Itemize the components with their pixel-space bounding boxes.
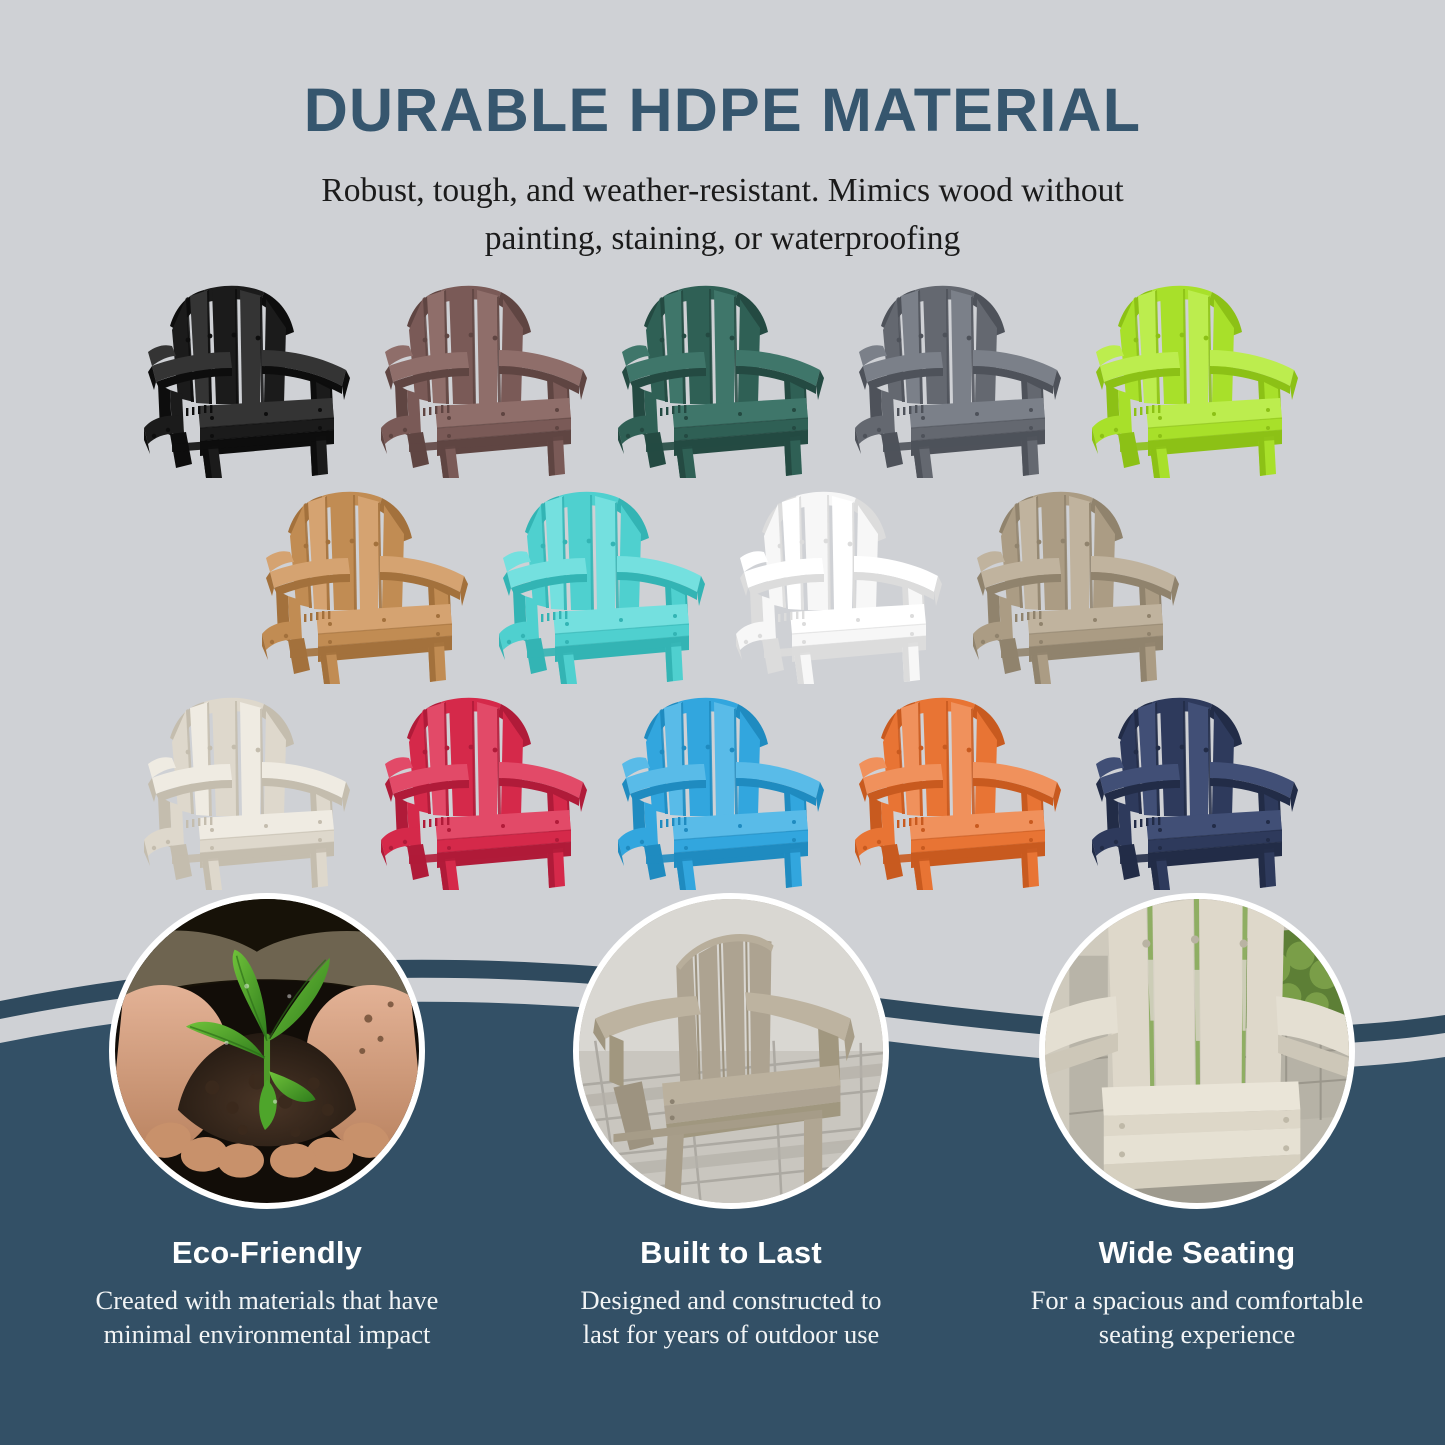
- features-section: Eco-Friendly Created with materials that…: [0, 893, 1445, 1445]
- feature-desc-line-2: last for years of outdoor use: [583, 1319, 880, 1349]
- chair-swatch-black[interactable]: [130, 272, 367, 478]
- chair-swatch-brown[interactable]: [367, 272, 604, 478]
- chair-swatch-gray[interactable]: [841, 272, 1078, 478]
- feature-title: Eco-Friendly: [52, 1209, 482, 1271]
- page-subtitle: Robust, tough, and weather-resistant. Mi…: [218, 141, 1228, 262]
- chair-illustration: [260, 484, 474, 684]
- chair-swatch-white[interactable]: [723, 478, 960, 684]
- feature-image-hands-seedling: [109, 893, 425, 1209]
- chair-swatch-navy[interactable]: [1078, 684, 1315, 890]
- chair-illustration: [1090, 690, 1304, 890]
- feature-desc-line-2: minimal environmental impact: [104, 1319, 431, 1349]
- feature-desc-line-2: seating experience: [1099, 1319, 1295, 1349]
- chair-illustration: [853, 690, 1067, 890]
- subtitle-line-2: painting, staining, or waterproofing: [485, 220, 960, 257]
- chair-swatch-orange[interactable]: [841, 684, 1078, 890]
- chair-row-3: [0, 684, 1445, 890]
- chair-illustration: [497, 484, 711, 684]
- feature-desc-line-1: Designed and constructed to: [581, 1285, 882, 1315]
- chair-swatch-ivory[interactable]: [130, 684, 367, 890]
- feature-description: Designed and constructed to last for yea…: [521, 1271, 941, 1352]
- feature-description: For a spacious and comfortable seating e…: [987, 1271, 1407, 1352]
- chair-illustration: [1090, 278, 1304, 478]
- chair-illustration: [853, 278, 1067, 478]
- chair-row-1: [0, 272, 1445, 478]
- chair-swatch-lime-green[interactable]: [1078, 272, 1315, 478]
- chair-swatch-dark-green[interactable]: [604, 272, 841, 478]
- chair-illustration: [379, 278, 593, 478]
- chair-row-2: [0, 478, 1445, 684]
- chair-swatch-weathered-wood[interactable]: [960, 478, 1197, 684]
- chair-illustration: [379, 690, 593, 890]
- chair-swatch-turquoise[interactable]: [486, 478, 723, 684]
- chair-illustration: [142, 278, 356, 478]
- feature-eco-friendly: Eco-Friendly Created with materials that…: [52, 893, 482, 1352]
- chair-color-grid: [0, 272, 1445, 890]
- subtitle-line-1: Robust, tough, and weather-resistant. Mi…: [321, 172, 1123, 209]
- feature-desc-line-1: For a spacious and comfortable: [1031, 1285, 1364, 1315]
- feature-description: Created with materials that have minimal…: [57, 1271, 477, 1352]
- chair-swatch-red[interactable]: [367, 684, 604, 890]
- chair-illustration: [616, 690, 830, 890]
- chair-illustration: [971, 484, 1185, 684]
- chair-swatch-teak[interactable]: [249, 478, 486, 684]
- header: DURABLE HDPE MATERIAL Robust, tough, and…: [0, 0, 1445, 262]
- feature-image-chair-on-patio: [573, 893, 889, 1209]
- feature-title: Wide Seating: [982, 1209, 1412, 1271]
- chair-swatch-blue[interactable]: [604, 684, 841, 890]
- feature-built-to-last: Built to Last Designed and constructed t…: [516, 893, 946, 1352]
- chair-illustration: [616, 278, 830, 478]
- feature-title: Built to Last: [516, 1209, 946, 1271]
- infographic-root: DURABLE HDPE MATERIAL Robust, tough, and…: [0, 0, 1445, 1445]
- chair-illustration: [142, 690, 356, 890]
- feature-desc-line-1: Created with materials that have: [96, 1285, 439, 1315]
- feature-wide-seating: Wide Seating For a spacious and comforta…: [982, 893, 1412, 1352]
- chair-illustration: [734, 484, 948, 684]
- feature-image-wide-seat-closeup: [1039, 893, 1355, 1209]
- page-title: DURABLE HDPE MATERIAL: [0, 0, 1445, 141]
